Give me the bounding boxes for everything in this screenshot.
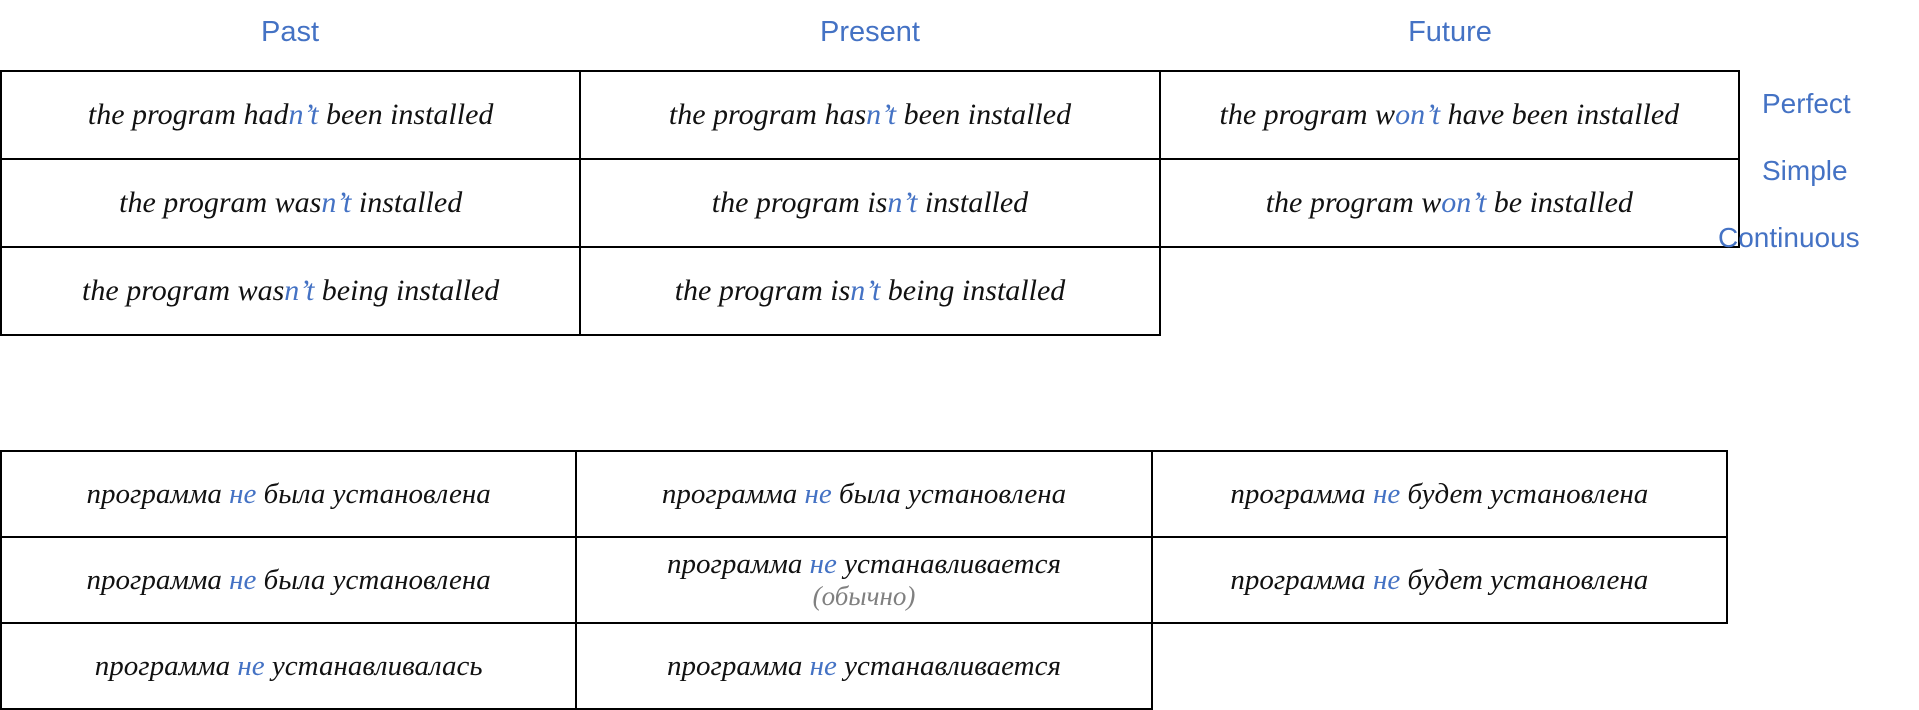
column-header-present: Present [580, 8, 1160, 56]
negation-marker: не [1373, 564, 1400, 596]
cell-text-after-negation: being installed [880, 274, 1065, 307]
table-cell-empty [1160, 247, 1739, 335]
cell-text-before-negation: the program was [82, 274, 284, 307]
aspect-label-perfect: Perfect [1762, 88, 1851, 120]
aspect-label-continuous: Continuous [1718, 222, 1860, 254]
negation-marker: on’t [1441, 186, 1486, 219]
cell-text-before-negation: the program had [88, 98, 289, 131]
cell-text-after-negation: будет установлена [1400, 478, 1648, 510]
table-cell: the program wasn’t installed [1, 159, 580, 247]
cell-text-before-negation: программа [95, 650, 238, 682]
cell-text-before-negation: программа [662, 478, 805, 510]
cell-text-before-negation: the program has [669, 98, 866, 131]
cell-text-after-negation: устанавливается [837, 548, 1061, 580]
negation-marker: не [1373, 478, 1400, 510]
table-cell: the program hadn’t been installed [1, 71, 580, 159]
cell-text-after-negation: have been installed [1440, 98, 1679, 131]
table-cell: the program won’t be installed [1160, 159, 1739, 247]
cell-text-after-negation: installed [351, 186, 462, 219]
russian-translation-table: программа не была установленапрограмма н… [0, 450, 1728, 710]
negation-marker: не [229, 478, 256, 510]
table-row: программа не устанавливаласьпрограмма не… [1, 623, 1727, 709]
cell-text-after-negation: была установлена [256, 478, 490, 510]
table-cell: the program isn’t installed [580, 159, 1159, 247]
table-cell: программа не будет установлена [1152, 537, 1727, 623]
cell-text-after-negation: была установлена [832, 478, 1066, 510]
table-cell: программа не устанавливалась [1, 623, 576, 709]
table-cell: the program isn’t being installed [580, 247, 1159, 335]
cell-text-before-negation: the program w [1266, 186, 1442, 219]
negation-marker: n’t [850, 274, 880, 307]
table-row: the program wasn’t being installedthe pr… [1, 247, 1739, 335]
cell-text-before-negation: the program is [712, 186, 888, 219]
negation-marker: n’t [866, 98, 896, 131]
table-row: the program hadn’t been installedthe pro… [1, 71, 1739, 159]
cell-text-before-negation: the program is [675, 274, 851, 307]
table-cell: программа не была установлена [576, 451, 1151, 537]
cell-text-after-negation: be installed [1486, 186, 1633, 219]
table-cell-empty [1152, 623, 1727, 709]
table-cell: программа не была установлена [1, 537, 576, 623]
negation-marker: n’t [321, 186, 351, 219]
cell-text-before-negation: the program was [119, 186, 321, 219]
cell-text-before-negation: программа [87, 478, 230, 510]
table-cell: the program wasn’t being installed [1, 247, 580, 335]
negation-marker: не [810, 548, 837, 580]
cell-text-before-negation: программа [667, 650, 810, 682]
cell-text-after-negation: была установлена [256, 564, 490, 596]
cell-text-after-negation: устанавливалась [265, 650, 483, 682]
negation-marker: не [804, 478, 831, 510]
negation-marker: n’t [887, 186, 917, 219]
cell-usage-note: (обычно) [583, 581, 1144, 613]
cell-text-before-negation: программа [1230, 478, 1373, 510]
negation-marker: n’t [288, 98, 318, 131]
column-header-past: Past [0, 8, 580, 56]
table-row: программа не была установленапрограмма н… [1, 537, 1727, 623]
table-row: программа не была установленапрограмма н… [1, 451, 1727, 537]
table-row: the program wasn’t installedthe program … [1, 159, 1739, 247]
table-cell: the program won’t have been installed [1160, 71, 1739, 159]
cell-text-after-negation: being installed [314, 274, 499, 307]
english-negative-passive-table: the program hadn’t been installedthe pro… [0, 70, 1740, 336]
negation-marker: не [810, 650, 837, 682]
cell-text-before-negation: программа [667, 548, 810, 580]
table-cell: программа не была установлена [1, 451, 576, 537]
cell-text-before-negation: the program w [1220, 98, 1396, 131]
table-cell: программа не будет установлена [1152, 451, 1727, 537]
negation-marker: не [229, 564, 256, 596]
cell-text-after-negation: been installed [318, 98, 493, 131]
english-table-body: the program hadn’t been installedthe pro… [1, 71, 1739, 335]
table-cell: программа не устанавливается(обычно) [576, 537, 1151, 623]
cell-text-after-negation: installed [917, 186, 1028, 219]
negation-marker: n’t [284, 274, 314, 307]
aspect-label-simple: Simple [1762, 155, 1848, 187]
tense-header-row: Past Present Future [0, 8, 1740, 56]
russian-table-body: программа не была установленапрограмма н… [1, 451, 1727, 709]
cell-text-before-negation: программа [1230, 564, 1373, 596]
negation-marker: не [237, 650, 264, 682]
cell-text-after-negation: будет установлена [1400, 564, 1648, 596]
negation-marker: on’t [1395, 98, 1440, 131]
table-cell: the program hasn’t been installed [580, 71, 1159, 159]
cell-text-before-negation: программа [87, 564, 230, 596]
table-cell: программа не устанавливается [576, 623, 1151, 709]
column-header-future: Future [1160, 8, 1740, 56]
cell-text-after-negation: устанавливается [837, 650, 1061, 682]
cell-text-after-negation: been installed [896, 98, 1071, 131]
